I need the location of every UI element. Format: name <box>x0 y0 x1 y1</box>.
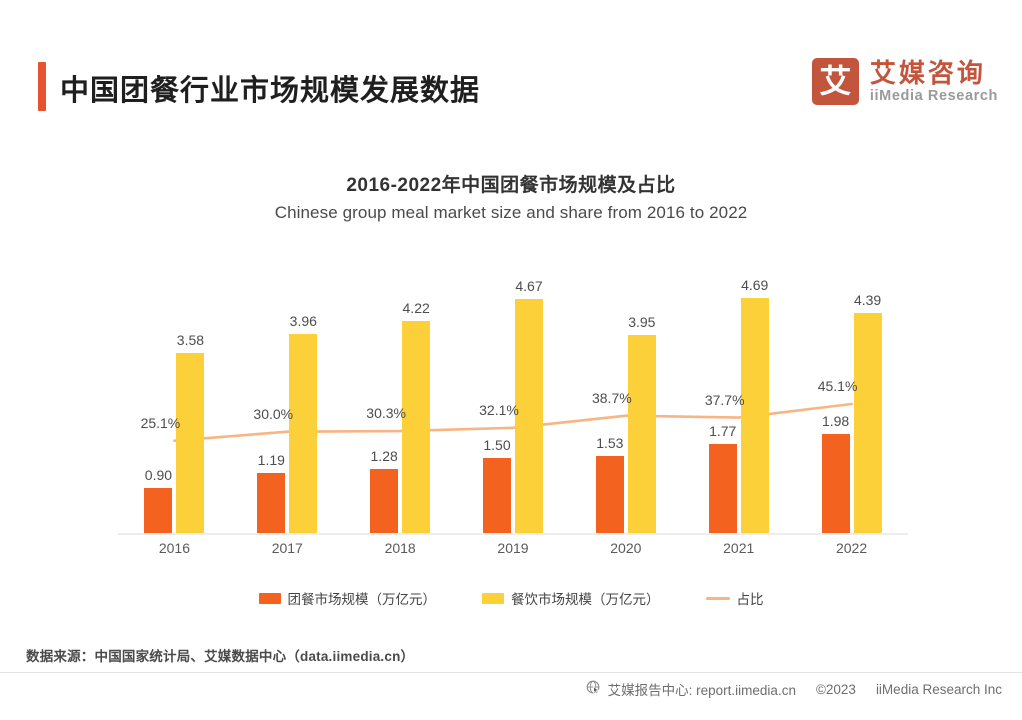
chart-title: 2016-2022年中国团餐市场规模及占比 <box>0 170 1022 197</box>
page-footer: 艾媒报告中心: report.iimedia.cn ©2023 iiMedia … <box>586 679 1002 699</box>
chart-subtitle: Chinese group meal market size and share… <box>0 203 1022 223</box>
x-axis-tick-2016: 2016 <box>134 540 214 556</box>
chart-plot-area: 0.903.581.193.961.284.221.504.671.533.95… <box>0 250 1022 535</box>
bar-group-meal-2022 <box>822 434 850 533</box>
x-axis-labels: 2016201720182019202020212022 <box>0 540 1022 564</box>
logo-name-cn: 艾媒咨询 <box>870 60 998 86</box>
logo-mark-icon: 艾 <box>812 58 859 105</box>
legend-label: 占比 <box>737 588 764 608</box>
line-label-share-2019: 32.1% <box>468 402 530 418</box>
bar-catering-2020 <box>628 335 656 533</box>
legend-item-group-meal[interactable]: 团餐市场规模（万亿元） <box>259 588 437 608</box>
globe-cursor-icon <box>586 680 601 698</box>
legend-item-catering[interactable]: 餐饮市场规模（万亿元） <box>482 588 660 608</box>
x-axis-tick-2020: 2020 <box>586 540 666 556</box>
line-label-share-2017: 30.0% <box>242 406 304 422</box>
line-label-share-2021: 37.7% <box>694 392 756 408</box>
page-title: 中国团餐行业市场规模发展数据 <box>60 67 480 109</box>
x-axis-tick-2019: 2019 <box>473 540 553 556</box>
legend-swatch-icon <box>482 593 504 604</box>
line-label-share-2016: 25.1% <box>129 415 191 431</box>
bar-catering-2017 <box>289 334 317 533</box>
title-accent-bar <box>38 62 46 111</box>
bar-catering-2018 <box>402 321 430 533</box>
line-label-share-2022: 45.1% <box>807 378 869 394</box>
logo-text: 艾媒咨询 iiMedia Research <box>870 60 998 104</box>
bar-group-meal-2020 <box>596 456 624 533</box>
line-label-share-2018: 30.3% <box>355 405 417 421</box>
bar-label-catering-2016: 3.58 <box>161 332 219 348</box>
legend-swatch-icon <box>706 597 730 600</box>
x-axis-tick-2017: 2017 <box>247 540 327 556</box>
x-axis-tick-2018: 2018 <box>360 540 440 556</box>
footer-divider <box>0 672 1022 673</box>
bar-label-catering-2021: 4.69 <box>726 277 784 293</box>
legend-item-share[interactable]: 占比 <box>706 588 764 608</box>
bar-group-meal-2017 <box>257 473 285 533</box>
bar-label-catering-2018: 4.22 <box>387 300 445 316</box>
footer-report-center[interactable]: 艾媒报告中心: report.iimedia.cn <box>608 679 796 699</box>
bar-label-catering-2020: 3.95 <box>613 314 671 330</box>
legend-label: 团餐市场规模（万亿元） <box>288 588 437 608</box>
bar-group-meal-2018 <box>370 469 398 533</box>
bar-catering-2016 <box>176 353 204 533</box>
bar-label-catering-2017: 3.96 <box>274 313 332 329</box>
legend-swatch-icon <box>259 593 281 604</box>
source-note: 数据来源：中国国家统计局、艾媒数据中心（data.iimedia.cn） <box>26 645 414 665</box>
logo-name-en: iiMedia Research <box>870 89 998 104</box>
footer-copyright: ©2023 <box>816 682 856 697</box>
chart-legend: 团餐市场规模（万亿元）餐饮市场规模（万亿元）占比 <box>0 588 1022 608</box>
legend-label: 餐饮市场规模（万亿元） <box>511 588 660 608</box>
line-label-share-2020: 38.7% <box>581 390 643 406</box>
chart-canvas: 0.903.581.193.961.284.221.504.671.533.95… <box>0 250 1022 535</box>
bar-label-catering-2022: 4.39 <box>839 292 897 308</box>
x-axis-tick-2022: 2022 <box>812 540 892 556</box>
bar-catering-2022 <box>854 313 882 533</box>
page-header: 中国团餐行业市场规模发展数据 艾 艾媒咨询 iiMedia Research <box>0 0 1022 132</box>
bar-catering-2021 <box>741 298 769 533</box>
bar-group-meal-2019 <box>483 458 511 533</box>
bar-label-catering-2019: 4.67 <box>500 278 558 294</box>
x-axis-tick-2021: 2021 <box>699 540 779 556</box>
footer-company: iiMedia Research Inc <box>876 682 1002 697</box>
brand-logo: 艾 艾媒咨询 iiMedia Research <box>812 58 998 105</box>
bar-group-meal-2016 <box>144 488 172 533</box>
bar-group-meal-2021 <box>709 444 737 533</box>
